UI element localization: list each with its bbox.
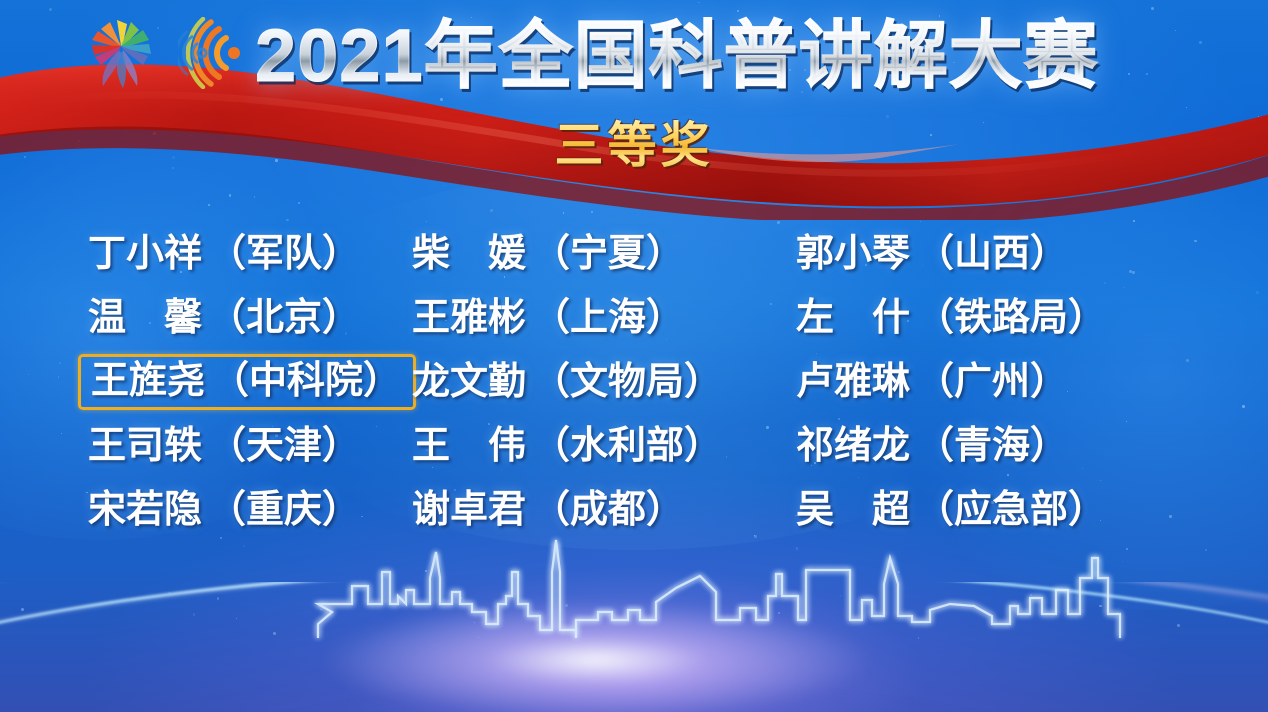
- winner-organization: （铁路局）: [916, 295, 1106, 341]
- winner-row: 温 馨（北京）王雅彬（上海）左 什（铁路局）: [0, 286, 1268, 350]
- winner-organization: （成都）: [532, 487, 684, 533]
- slide-header: 2021年全国科普讲解大赛: [0, 0, 1268, 120]
- orange-soundwave-logo: [178, 17, 260, 89]
- winner-entry: 郭小琴（山西）: [796, 231, 1068, 277]
- winner-cell: 卢雅琳（广州）: [778, 359, 1178, 405]
- winner-name: 王雅彬: [412, 295, 526, 341]
- winner-cell: 王司轶（天津）: [0, 423, 392, 469]
- winner-cell: 丁小祥（军队）: [0, 231, 392, 277]
- winner-cell: 王 伟（水利部）: [392, 423, 778, 469]
- winner-organization: （宁夏）: [532, 231, 684, 277]
- award-slide: 2021年全国科普讲解大赛 三等奖 丁小祥（军队）柴 媛（宁夏）郭小琴（山西）温…: [0, 0, 1268, 712]
- winner-name: 温 馨: [88, 295, 202, 341]
- winner-organization: （文物局）: [532, 359, 722, 405]
- winner-cell: 谢卓君（成都）: [392, 487, 778, 533]
- winner-name: 宋若隐: [88, 487, 202, 533]
- winner-cell: 柴 媛（宁夏）: [392, 231, 778, 277]
- winner-organization: （重庆）: [208, 487, 360, 533]
- winner-row: 宋若隐（重庆）谢卓君（成都）吴 超（应急部）: [0, 478, 1268, 542]
- winner-name: 柴 媛: [412, 231, 526, 277]
- winner-entry: 谢卓君（成都）: [412, 487, 684, 533]
- winner-cell: 祁绪龙（青海）: [778, 423, 1178, 469]
- winner-name: 吴 超: [796, 487, 910, 533]
- rainbow-starburst-logo: [78, 16, 164, 90]
- winner-entry: 祁绪龙（青海）: [796, 423, 1068, 469]
- winner-entry: 王司轶（天津）: [88, 423, 360, 469]
- winner-organization: （广州）: [916, 359, 1068, 405]
- winner-cell: 龙文勤（文物局）: [392, 359, 778, 405]
- winner-name: 王旌尧: [91, 358, 205, 404]
- winner-organization: （中科院）: [211, 358, 401, 404]
- winner-name: 郭小琴: [796, 231, 910, 277]
- winner-cell: 左 什（铁路局）: [778, 295, 1178, 341]
- winner-organization: （上海）: [532, 295, 684, 341]
- winner-entry-highlighted[interactable]: 王旌尧（中科院）: [78, 354, 416, 410]
- award-level-title: 三等奖: [0, 118, 1268, 174]
- winner-name: 丁小祥: [88, 231, 202, 277]
- winner-organization: （军队）: [208, 231, 360, 277]
- winner-entry: 吴 超（应急部）: [796, 487, 1106, 533]
- winner-row: 丁小祥（军队）柴 媛（宁夏）郭小琴（山西）: [0, 222, 1268, 286]
- winner-organization: （青海）: [916, 423, 1068, 469]
- winner-name: 龙文勤: [412, 359, 526, 405]
- winner-entry: 王 伟（水利部）: [412, 423, 722, 469]
- winner-entry: 宋若隐（重庆）: [88, 487, 360, 533]
- winner-entry: 龙文勤（文物局）: [412, 359, 722, 405]
- winner-name: 左 什: [796, 295, 910, 341]
- winner-entry: 左 什（铁路局）: [796, 295, 1106, 341]
- winner-entry: 柴 媛（宁夏）: [412, 231, 684, 277]
- winner-organization: （天津）: [208, 423, 360, 469]
- winner-entry: 温 馨（北京）: [88, 295, 360, 341]
- winner-row: 王旌尧（中科院）龙文勤（文物局）卢雅琳（广州）: [0, 350, 1268, 414]
- winner-cell: 宋若隐（重庆）: [0, 487, 392, 533]
- winner-entry: 丁小祥（军队）: [88, 231, 360, 277]
- glowing-globe-arc: [0, 582, 1268, 712]
- winner-cell: 郭小琴（山西）: [778, 231, 1178, 277]
- winner-organization: （北京）: [208, 295, 360, 341]
- winner-cell: 王雅彬（上海）: [392, 295, 778, 341]
- winner-name: 卢雅琳: [796, 359, 910, 405]
- winner-cell: 吴 超（应急部）: [778, 487, 1178, 533]
- winner-name: 祁绪龙: [796, 423, 910, 469]
- winner-name: 王 伟: [412, 423, 526, 469]
- winner-organization: （应急部）: [916, 487, 1106, 533]
- logo-group: [78, 16, 260, 90]
- winner-entry: 王雅彬（上海）: [412, 295, 684, 341]
- winner-entry: 卢雅琳（广州）: [796, 359, 1068, 405]
- winner-name: 王司轶: [88, 423, 202, 469]
- winner-organization: （水利部）: [532, 423, 722, 469]
- page-title: 2021年全国科普讲解大赛: [255, 14, 1099, 98]
- winner-name: 谢卓君: [412, 487, 526, 533]
- winners-list: 丁小祥（军队）柴 媛（宁夏）郭小琴（山西）温 馨（北京）王雅彬（上海）左 什（铁…: [0, 222, 1268, 542]
- winner-cell: 温 馨（北京）: [0, 295, 392, 341]
- winner-organization: （山西）: [916, 231, 1068, 277]
- winner-cell: 王旌尧（中科院）: [0, 354, 392, 410]
- winner-row: 王司轶（天津）王 伟（水利部）祁绪龙（青海）: [0, 414, 1268, 478]
